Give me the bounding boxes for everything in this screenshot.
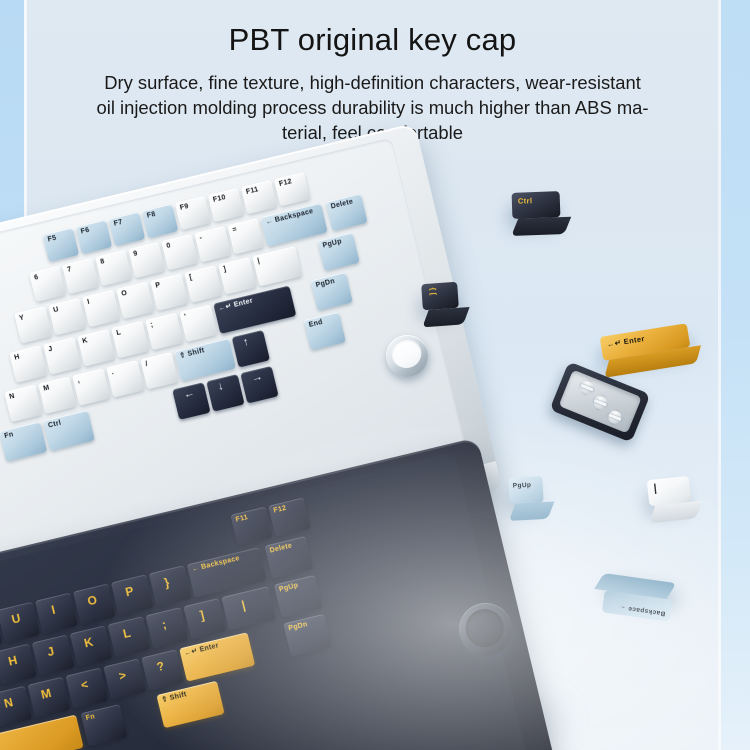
page-title: PBT original key cap	[24, 22, 721, 58]
keycap-top-face: Ctrl	[512, 191, 561, 219]
keycap-side-face	[511, 217, 571, 236]
header-block: PBT original key cap Dry surface, fine t…	[24, 0, 721, 146]
keycap-top-face: { [	[421, 282, 459, 310]
floating-keycap-ctrl[interactable]: Ctrl	[512, 191, 561, 219]
floating-keycap-pipe[interactable]: |	[647, 476, 691, 506]
subtitle-line-1: Dry surface, fine texture, high-definiti…	[30, 70, 715, 95]
background-right-band	[721, 0, 750, 750]
floating-keycap-brackets[interactable]: { [	[421, 282, 459, 310]
floating-keycap-pgup[interactable]: PgUp	[508, 476, 543, 504]
product-image-canvas: PBT original key cap Dry surface, fine t…	[0, 0, 750, 750]
keycap-top-face: PgUp	[508, 476, 543, 504]
subtitle-line-2: oil injection molding process durability…	[30, 95, 715, 120]
